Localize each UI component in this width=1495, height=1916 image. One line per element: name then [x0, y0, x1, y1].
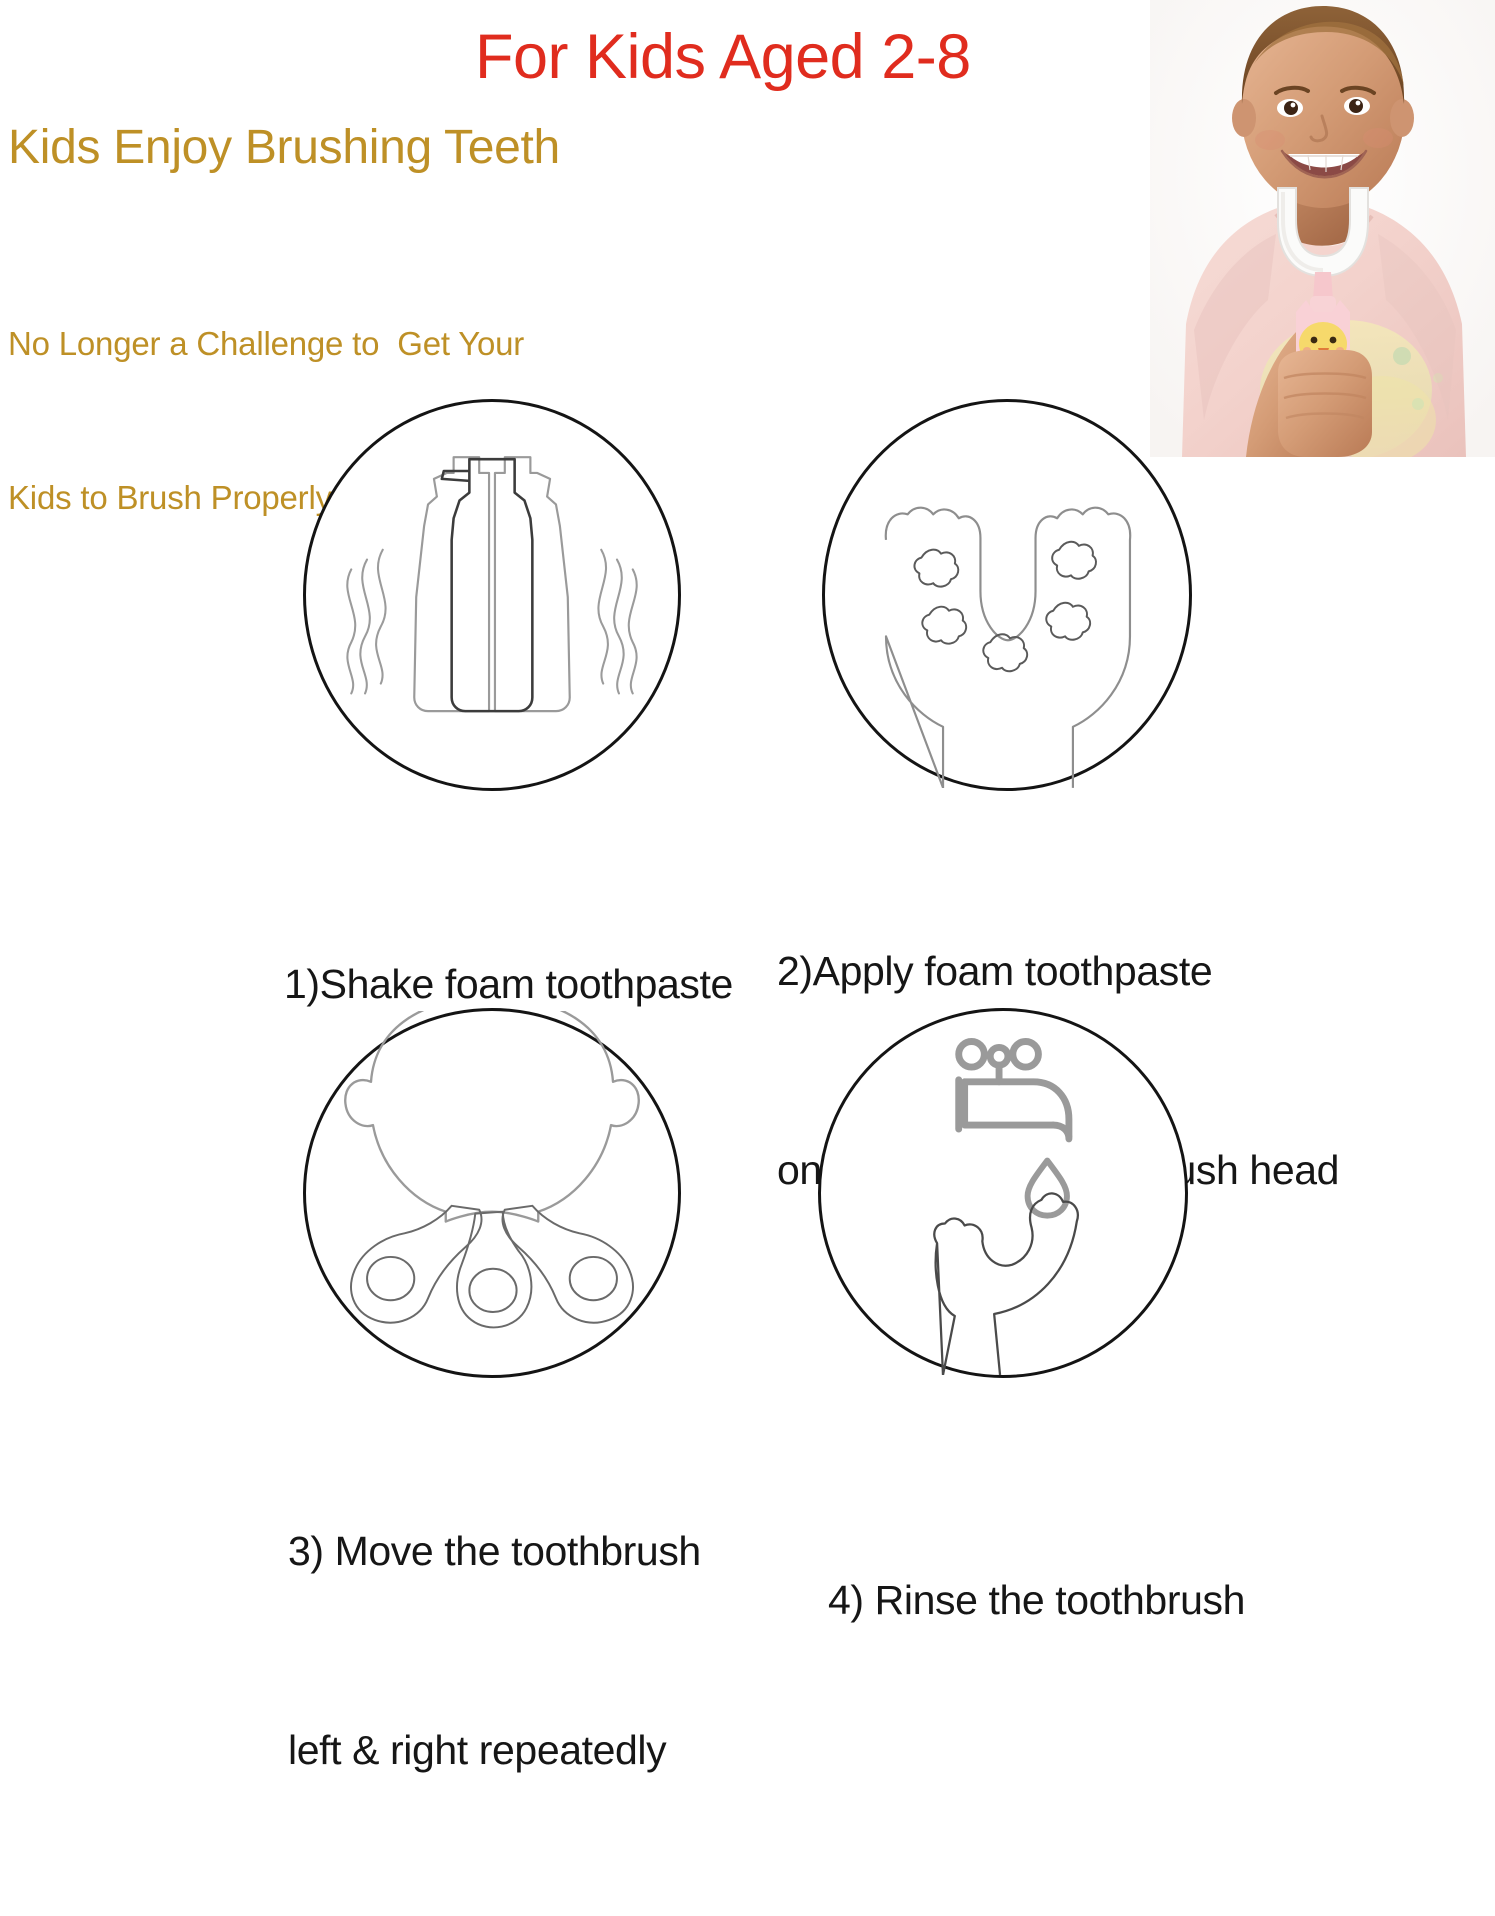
page-title-age: For Kids Aged 2-8 — [475, 26, 971, 89]
faucet-icon — [959, 1041, 1069, 1138]
shake-motion-lines-left — [347, 550, 385, 694]
foam-bottle-main — [442, 459, 533, 711]
step-2-caption-line-1: 2)Apply foam toothpaste — [777, 938, 1339, 1004]
step-4-illustration-circle — [818, 1008, 1188, 1378]
step-2-illustration-circle — [822, 399, 1192, 791]
child-head-outline — [345, 1011, 639, 1222]
step-1-illustration-circle — [303, 399, 681, 791]
step-3-caption-line-1: 3) Move the toothbrush — [288, 1518, 701, 1584]
child-holding-u-toothbrush-photo — [1150, 0, 1495, 457]
step-3-illustration-circle — [303, 1008, 681, 1378]
u-brush-head-outline — [886, 508, 1130, 788]
step-1-caption-line-1: 1)Shake foam toothpaste — [284, 952, 733, 1017]
u-brush-tilted-outline — [934, 1193, 1078, 1375]
step-4-caption: 4) Rinse the toothbrush — [828, 1438, 1245, 1762]
brush-handle-center-position — [457, 1212, 531, 1328]
step-3-caption-line-2: left & right repeatedly — [288, 1717, 701, 1783]
step-4-caption-line-1: 4) Rinse the toothbrush — [828, 1568, 1245, 1633]
shake-motion-lines-right — [598, 550, 636, 694]
infographic-canvas: For Kids Aged 2-8 Kids Enjoy Brushing Te… — [0, 0, 1495, 1500]
brush-handle-right-position — [503, 1206, 633, 1323]
tagline-body-line-1: No Longer a Challenge to Get Your — [8, 318, 524, 369]
tagline-heading: Kids Enjoy Brushing Teeth — [8, 124, 560, 172]
foam-blobs — [914, 542, 1096, 671]
step-3-caption: 3) Move the toothbrush left & right repe… — [288, 1385, 701, 1916]
